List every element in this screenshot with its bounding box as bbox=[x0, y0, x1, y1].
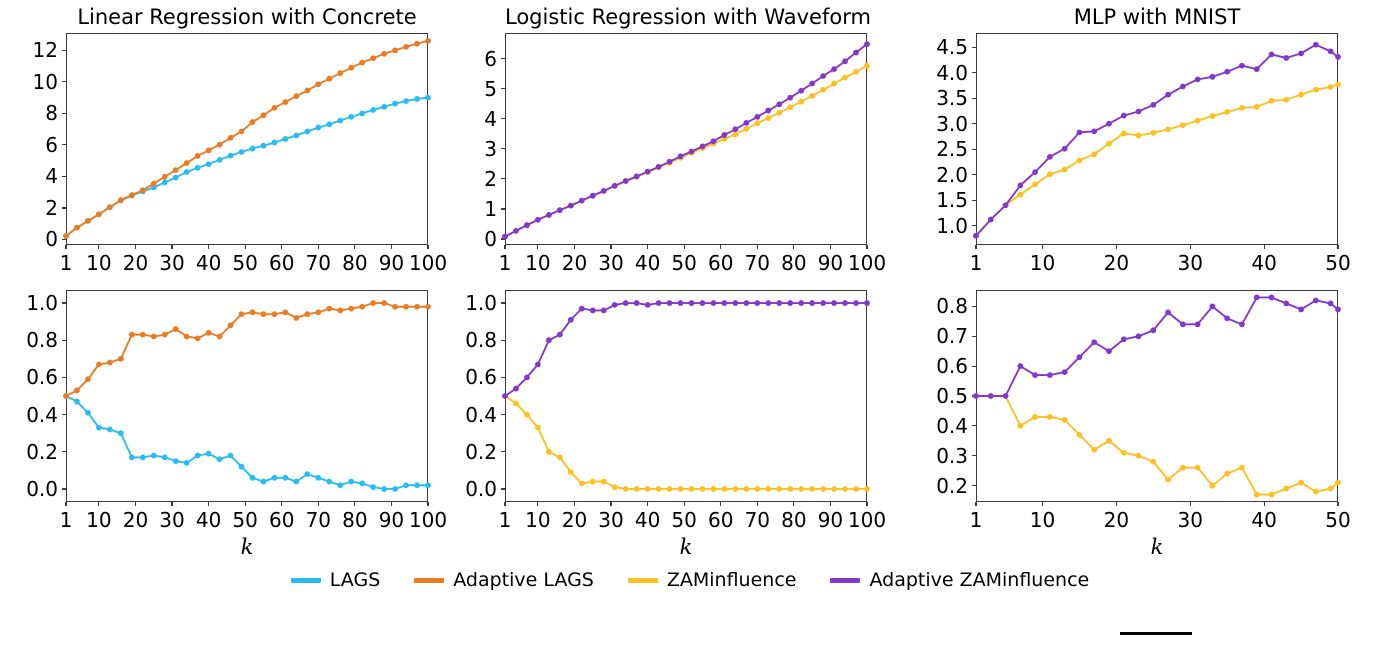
series-marker bbox=[973, 393, 979, 399]
legend-item-adaptive-lags[interactable]: Adaptive LAGS bbox=[414, 570, 594, 590]
legend-item-lags[interactable]: LAGS bbox=[291, 570, 380, 590]
figure-legend: LAGSAdaptive LAGSZAMinfluenceAdaptive ZA… bbox=[0, 568, 1380, 592]
series-marker bbox=[1136, 453, 1142, 459]
series-marker bbox=[1106, 348, 1112, 354]
series-marker bbox=[1313, 489, 1319, 495]
series-marker bbox=[1283, 486, 1289, 492]
series-marker bbox=[1195, 465, 1201, 471]
series-marker bbox=[1335, 480, 1341, 486]
series-marker bbox=[1269, 295, 1275, 301]
series-marker bbox=[1032, 414, 1038, 420]
legend-label: LAGS bbox=[330, 570, 380, 590]
legend-color-swatch bbox=[291, 578, 321, 583]
series-marker bbox=[1003, 393, 1009, 399]
series-marker bbox=[1077, 354, 1083, 360]
series-marker bbox=[1195, 321, 1201, 327]
series-marker bbox=[1165, 477, 1171, 483]
series-marker bbox=[1239, 465, 1245, 471]
series-marker bbox=[1121, 336, 1127, 342]
series-marker bbox=[1269, 492, 1275, 498]
series-marker bbox=[1180, 465, 1186, 471]
legend-label: ZAMinfluence bbox=[667, 570, 797, 590]
series-marker bbox=[1091, 447, 1097, 453]
series-marker bbox=[1062, 417, 1068, 423]
series-marker bbox=[1298, 307, 1304, 313]
legend-label: Adaptive ZAMinfluence bbox=[869, 570, 1089, 590]
legend-item-adaptive-zaminfluence[interactable]: Adaptive ZAMinfluence bbox=[830, 570, 1089, 590]
series-line-zaminfluence bbox=[976, 396, 1338, 495]
legend-color-swatch bbox=[628, 578, 658, 583]
series-marker bbox=[1032, 372, 1038, 378]
series-marker bbox=[1210, 304, 1216, 310]
series-line-adaptive-zaminfluence bbox=[976, 297, 1338, 396]
series-marker bbox=[988, 393, 994, 399]
series-marker bbox=[1298, 480, 1304, 486]
series-marker bbox=[1091, 339, 1097, 345]
series-marker bbox=[1017, 363, 1023, 369]
series-marker bbox=[1313, 298, 1319, 304]
series-marker bbox=[1283, 301, 1289, 307]
series-marker bbox=[1165, 309, 1171, 315]
series-marker bbox=[1106, 438, 1112, 444]
series-marker bbox=[1150, 327, 1156, 333]
series-marker bbox=[1254, 295, 1260, 301]
series-marker bbox=[1224, 471, 1230, 477]
legend-label: Adaptive LAGS bbox=[453, 570, 594, 590]
series-marker bbox=[1328, 486, 1334, 492]
series-marker bbox=[1180, 321, 1186, 327]
series-marker bbox=[1335, 307, 1341, 313]
footer-horizontal-rule bbox=[1120, 632, 1192, 635]
legend-color-swatch bbox=[830, 578, 860, 583]
series-marker bbox=[1150, 459, 1156, 465]
series-marker bbox=[1254, 492, 1260, 498]
series-marker bbox=[1017, 423, 1023, 429]
series-marker bbox=[1077, 432, 1083, 438]
series-marker bbox=[1239, 321, 1245, 327]
subplot-mlp-mnist-winrate: 0.20.30.40.50.60.70.811020304050k bbox=[0, 0, 1380, 648]
series-marker bbox=[1224, 315, 1230, 321]
series-marker bbox=[1136, 333, 1142, 339]
data-series-layer bbox=[0, 0, 1380, 648]
series-marker bbox=[1062, 369, 1068, 375]
legend-item-zaminfluence[interactable]: ZAMinfluence bbox=[628, 570, 797, 590]
legend-color-swatch bbox=[414, 578, 444, 583]
series-marker bbox=[1210, 483, 1216, 489]
series-marker bbox=[1047, 372, 1053, 378]
series-marker bbox=[1121, 450, 1127, 456]
series-marker bbox=[1047, 414, 1053, 420]
series-marker bbox=[1328, 301, 1334, 307]
figure-canvas: Linear Regression with Concrete024681012… bbox=[0, 0, 1380, 648]
